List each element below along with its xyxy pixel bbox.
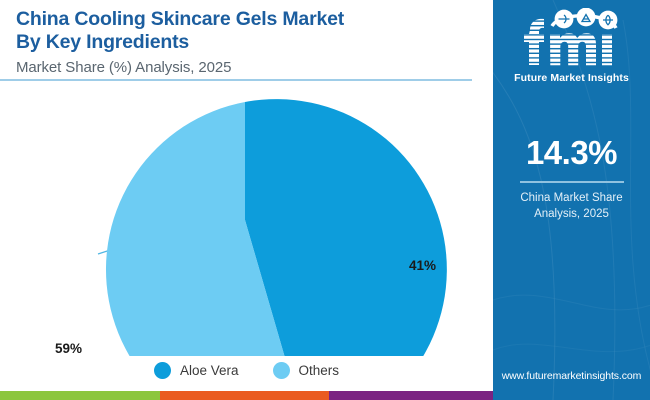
fmi-logo-tagline: Future Market Insights [514,72,629,84]
stat-divider [520,181,624,183]
legend-label: Others [299,363,340,378]
page-subtitle: Market Share (%) Analysis, 2025 [16,59,466,76]
color-bar-segment-green [0,391,160,400]
stat-block: 14.3% China Market Share Analysis, 2025 [493,134,650,222]
color-bar-segment-purple [329,391,493,400]
page-title: China Cooling Skincare Gels Market By Ke… [16,8,466,54]
pie-chart-svg [0,86,493,356]
legend-item-aloe-vera[interactable]: Aloe Vera [154,362,239,379]
legend-swatch-icon [273,362,290,379]
infographic-root: China Cooling Skincare Gels Market By Ke… [0,0,650,400]
fmi-logo[interactable]: Future Market Insights [493,8,650,84]
fmi-logo-mark-icon [512,8,632,70]
color-bar-segment-orange [160,391,329,400]
stat-value: 14.3% [526,134,617,172]
legend-swatch-icon [154,362,171,379]
title-divider [0,79,472,81]
stat-caption: China Market Share Analysis, 2025 [520,190,622,222]
chart-panel: China Cooling Skincare Gels Market By Ke… [0,0,493,386]
legend-item-others[interactable]: Others [273,362,340,379]
title-block: China Cooling Skincare Gels Market By Ke… [16,8,466,76]
bottom-color-bar [0,391,493,400]
chart-legend: Aloe Vera Others [0,362,493,379]
pie-slice-aloe-vera[interactable] [245,99,447,356]
brand-website-url[interactable]: www.futuremarketinsights.com [493,370,650,382]
pie-chart: 41% 59% [0,86,493,356]
legend-label: Aloe Vera [180,363,239,378]
pie-label-41: 41% [409,258,436,273]
brand-panel: Future Market Insights 14.3% China Marke… [493,0,650,400]
pie-label-59: 59% [55,341,82,356]
